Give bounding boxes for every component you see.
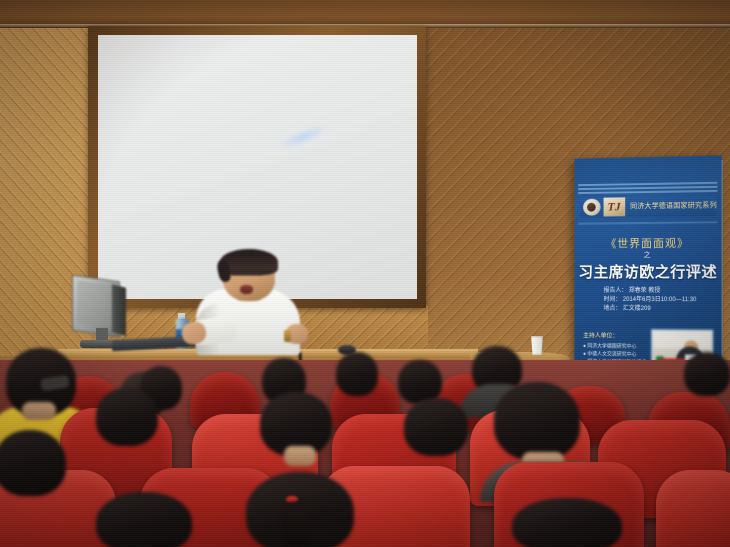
seat-front-5 xyxy=(656,470,730,547)
audience-head-11 xyxy=(494,382,580,460)
audience-head-10 xyxy=(404,398,468,456)
speaker-eyebrow xyxy=(231,272,263,275)
audience-head-12 xyxy=(0,430,66,496)
monitor-panel-inner xyxy=(77,280,114,328)
banner-stripe xyxy=(578,190,717,194)
banner-lecture-title: 习主席访欧之行评述 xyxy=(574,261,721,282)
banner-meta-speaker: 报告人： 郑春荣 教授 xyxy=(604,287,720,296)
audience-neck-9 xyxy=(284,446,316,466)
banner-stripe xyxy=(578,221,717,224)
audience-head-14 xyxy=(512,498,622,547)
speaker-wristwatch xyxy=(284,330,291,342)
audience-head-8 xyxy=(96,388,158,446)
audience-head-4 xyxy=(336,352,378,396)
lecture-hall-photo: TJ 同济大学德语国家研究系列讲座 《世界面面观》 之 习主席访欧之行评述 报告… xyxy=(0,0,730,547)
banner-zhi-char: 之 xyxy=(574,250,721,261)
tongji-logo-icon: TJ xyxy=(604,197,626,216)
ponytail xyxy=(282,502,312,547)
banner-organization-line: 同济大学德语国家研究系列讲座 xyxy=(630,200,716,213)
banner-meta-block: 报告人： 郑春荣 教授 时间： 2014年6月3日10:00—11:30 地点：… xyxy=(604,287,720,314)
speaker-mouth xyxy=(240,285,253,294)
photo-background-wall xyxy=(654,332,710,349)
audience-head-7 xyxy=(684,352,730,396)
monitor-side xyxy=(112,284,126,335)
audience-neck-glasses xyxy=(22,402,56,420)
audience-head-13 xyxy=(96,492,192,547)
banner-host-label: 主持人单位： xyxy=(583,330,618,339)
banner-meta-location: 地点： 汇文楼209 xyxy=(604,305,720,315)
